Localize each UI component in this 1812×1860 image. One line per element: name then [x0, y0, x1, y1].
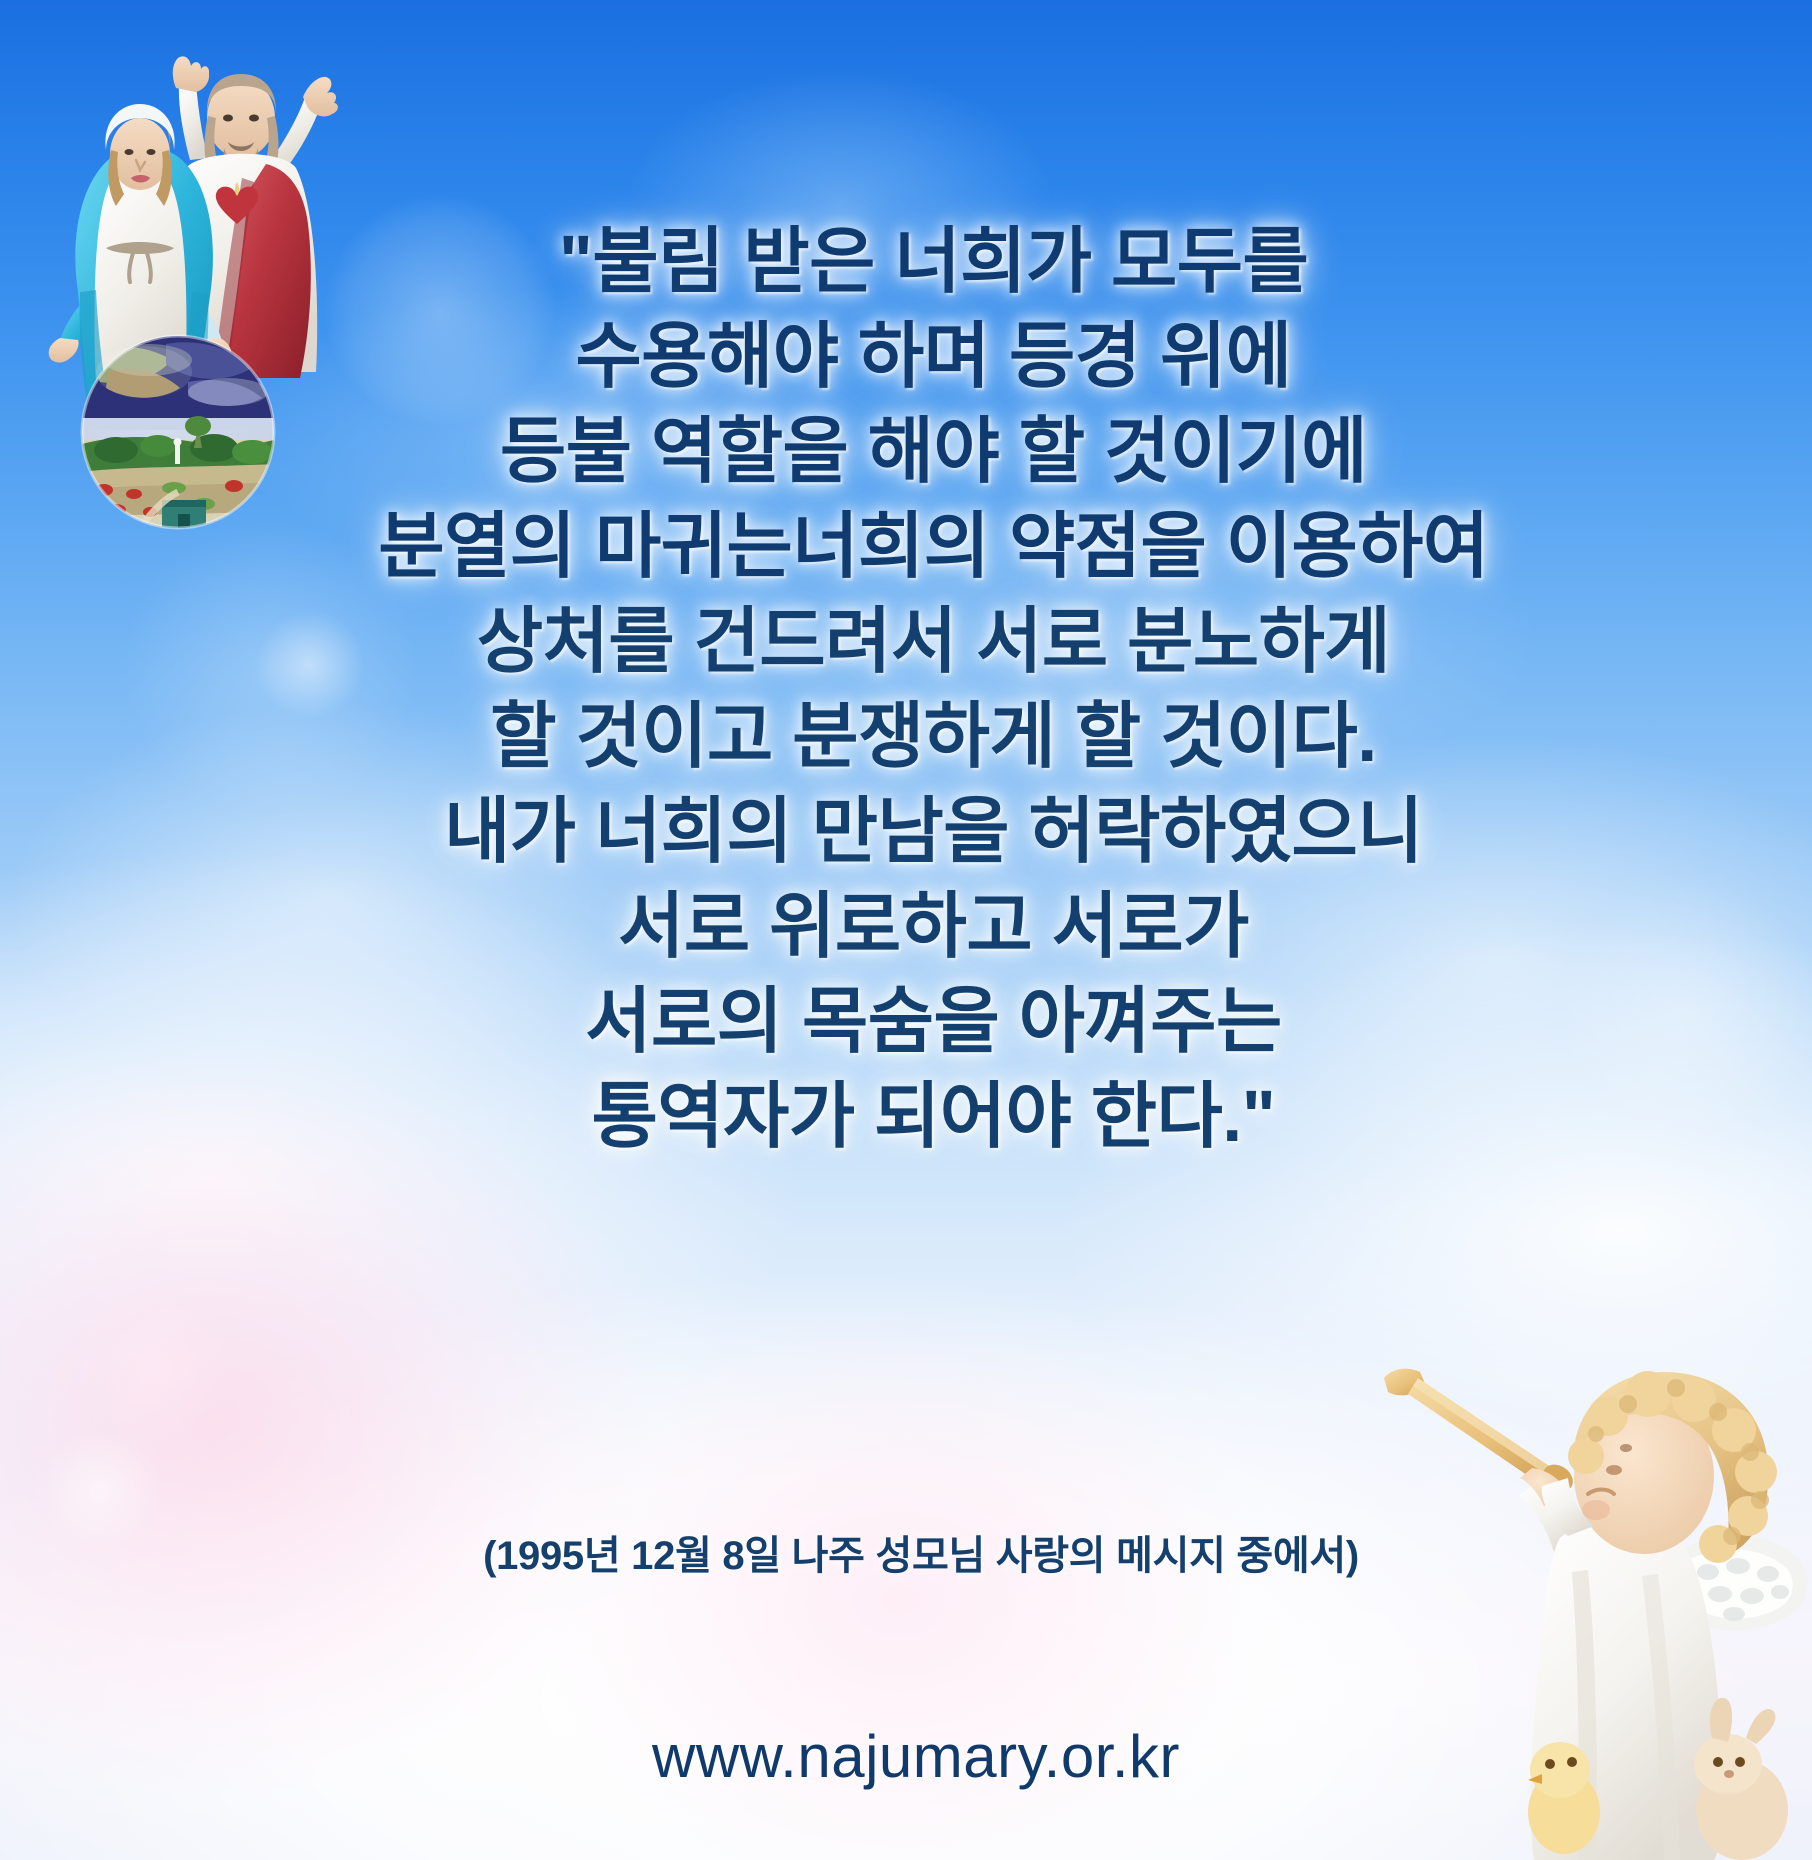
- angel-head: [1568, 1371, 1777, 1563]
- quote-line: 분열의 마귀는너희의 약점을 이용하여: [55, 500, 1812, 595]
- quote-line: "불림 받은 너희가 모두를: [55, 215, 1812, 310]
- trumpet-angel-icon: [1382, 1360, 1812, 1860]
- quote-line: 등불 역할을 해야 할 것이기에: [55, 405, 1812, 500]
- quote-line: 서로의 목숨을 아껴주는: [55, 975, 1812, 1070]
- message-card: "불림 받은 너희가 모두를 수용해야 하며 등경 위에 등불 역할을 해야 할…: [0, 0, 1812, 1860]
- quote-line: 서로 위로하고 서로가: [55, 880, 1812, 975]
- quote-line: 상처를 건드려서 서로 분노하게: [55, 595, 1812, 690]
- quote-text-block: "불림 받은 너희가 모두를 수용해야 하며 등경 위에 등불 역할을 해야 할…: [0, 215, 1812, 1165]
- quote-line: 수용해야 하며 등경 위에: [55, 310, 1812, 405]
- quote-line: 통역자가 되어야 한다.": [55, 1070, 1812, 1165]
- quote-line: 내가 너희의 만남을 허락하였으니: [55, 785, 1812, 880]
- quote-line: 할 것이고 분쟁하게 할 것이다.: [55, 690, 1812, 785]
- bokeh-orb: [75, 1290, 235, 1450]
